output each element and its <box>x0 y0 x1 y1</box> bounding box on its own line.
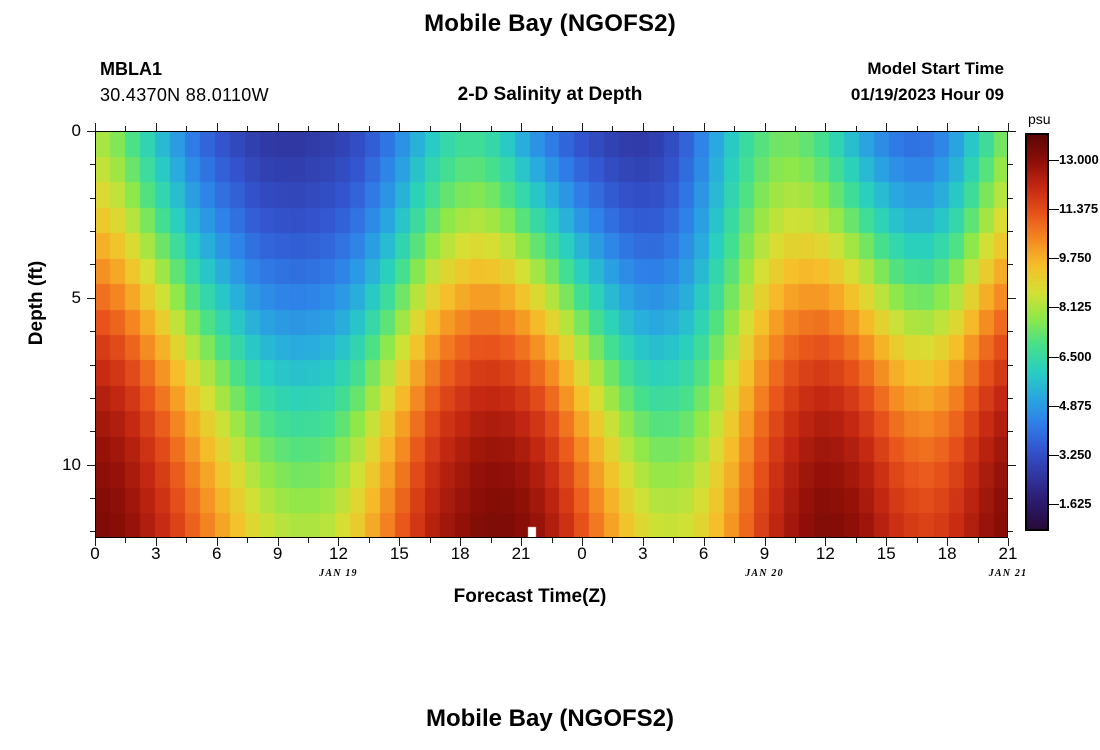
x-tick-minor <box>247 126 248 131</box>
x-tick-label: 12 <box>805 544 845 564</box>
x-tick-minor <box>186 126 187 131</box>
x-tick-minor <box>856 126 857 131</box>
x-tick-label: 0 <box>75 544 115 564</box>
colorbar-tick <box>1049 160 1059 161</box>
y-tick-minor <box>1008 264 1013 265</box>
y-tick-minor <box>90 531 95 532</box>
x-tick-major <box>278 123 279 131</box>
x-tick-minor <box>369 538 370 543</box>
x-tick-major <box>582 123 583 131</box>
x-tick-minor <box>978 126 979 131</box>
x-tick-minor <box>430 126 431 131</box>
x-tick-major <box>338 123 339 131</box>
x-tick-minor <box>552 126 553 131</box>
colorbar-tick <box>1049 455 1059 456</box>
x-tick-minor <box>247 538 248 543</box>
y-tick-label: 5 <box>37 288 81 308</box>
colorbar-tick <box>1049 258 1059 259</box>
x-tick-minor <box>552 538 553 543</box>
colorbar <box>1025 133 1049 531</box>
y-tick-minor <box>1008 198 1013 199</box>
x-tick-minor <box>125 538 126 543</box>
x-tick-minor <box>978 538 979 543</box>
day-label: JAN 20 <box>725 568 805 579</box>
colorbar-tick-label: 3.250 <box>1059 447 1092 462</box>
x-tick-minor <box>856 538 857 543</box>
y-tick-minor <box>90 264 95 265</box>
x-tick-major <box>643 123 644 131</box>
x-tick-minor <box>430 538 431 543</box>
y-tick-major <box>1008 298 1016 299</box>
salinity-heatmap <box>96 132 1008 538</box>
page-title: Mobile Bay (NGOFS2) <box>0 10 1100 38</box>
day-label: JAN 21 <box>968 568 1048 579</box>
colorbar-tick-label: 11.375 <box>1059 201 1098 216</box>
x-tick-minor <box>308 126 309 131</box>
colorbar-tick <box>1049 209 1059 210</box>
day-label: JAN 19 <box>298 568 378 579</box>
colorbar-tick-label: 8.125 <box>1059 299 1092 314</box>
x-tick-minor <box>795 538 796 543</box>
y-tick-minor <box>90 164 95 165</box>
x-tick-label: 0 <box>562 544 602 564</box>
x-tick-minor <box>308 538 309 543</box>
y-tick-minor <box>90 198 95 199</box>
x-tick-minor <box>795 126 796 131</box>
model-start-value: 01/19/2023 Hour 09 <box>851 82 1004 108</box>
x-tick-minor <box>673 126 674 131</box>
x-tick-label: 9 <box>258 544 298 564</box>
x-tick-minor <box>612 538 613 543</box>
x-tick-minor <box>186 538 187 543</box>
x-tick-label: 18 <box>927 544 967 564</box>
x-tick-minor <box>369 126 370 131</box>
colorbar-tick-label: 9.750 <box>1059 250 1092 265</box>
x-tick-major <box>521 123 522 131</box>
x-tick-major <box>947 123 948 131</box>
y-tick-minor <box>1008 164 1013 165</box>
footer-title: Mobile Bay (NGOFS2) <box>0 705 1100 733</box>
y-tick-label: 10 <box>37 455 81 475</box>
x-tick-label: 12 <box>318 544 358 564</box>
y-tick-minor <box>90 231 95 232</box>
x-tick-major <box>765 123 766 131</box>
colorbar-tick <box>1049 504 1059 505</box>
y-tick-minor <box>90 431 95 432</box>
x-tick-major <box>95 123 96 131</box>
x-tick-major <box>217 123 218 131</box>
x-tick-label: 21 <box>501 544 541 564</box>
y-tick-minor <box>90 365 95 366</box>
x-tick-minor <box>491 126 492 131</box>
y-tick-minor <box>1008 531 1013 532</box>
x-tick-label: 6 <box>197 544 237 564</box>
chart-page: Mobile Bay (NGOFS2) MBLA1 30.4370N 88.01… <box>0 0 1100 750</box>
x-tick-minor <box>734 126 735 131</box>
x-tick-major <box>399 123 400 131</box>
x-tick-minor <box>491 538 492 543</box>
y-tick-label: 0 <box>37 121 81 141</box>
x-tick-major <box>460 123 461 131</box>
x-tick-minor <box>673 538 674 543</box>
colorbar-tick <box>1049 406 1059 407</box>
y-tick-major <box>87 298 95 299</box>
x-tick-minor <box>612 126 613 131</box>
x-tick-label: 15 <box>866 544 906 564</box>
y-tick-major <box>1008 131 1016 132</box>
station-id: MBLA1 <box>100 56 269 82</box>
y-tick-minor <box>1008 331 1013 332</box>
colorbar-tick-label: 1.625 <box>1059 496 1092 511</box>
y-tick-major <box>87 131 95 132</box>
y-tick-minor <box>1008 231 1013 232</box>
y-tick-minor <box>1008 498 1013 499</box>
y-tick-major <box>1008 465 1016 466</box>
x-tick-major <box>704 123 705 131</box>
colorbar-gradient <box>1027 135 1047 529</box>
x-tick-minor <box>917 126 918 131</box>
x-tick-major <box>825 123 826 131</box>
y-tick-minor <box>1008 398 1013 399</box>
x-tick-minor <box>917 538 918 543</box>
colorbar-tick-label: 6.500 <box>1059 349 1092 364</box>
x-tick-major <box>1008 123 1009 131</box>
x-tick-label: 9 <box>745 544 785 564</box>
x-tick-label: 3 <box>136 544 176 564</box>
x-tick-label: 21 <box>988 544 1028 564</box>
y-tick-major <box>87 465 95 466</box>
x-tick-label: 15 <box>379 544 419 564</box>
x-tick-major <box>886 123 887 131</box>
colorbar-unit-label: psu <box>1028 111 1051 127</box>
x-tick-minor <box>734 538 735 543</box>
y-tick-minor <box>90 398 95 399</box>
x-tick-minor <box>125 126 126 131</box>
x-tick-label: 6 <box>684 544 724 564</box>
x-axis-label: Forecast Time(Z) <box>0 586 1060 608</box>
colorbar-tick <box>1049 307 1059 308</box>
model-start-label: Model Start Time <box>851 56 1004 82</box>
colorbar-tick-label: 13.000 <box>1059 152 1099 167</box>
x-tick-label: 18 <box>440 544 480 564</box>
y-tick-minor <box>1008 431 1013 432</box>
heatmap-plot-area <box>95 131 1008 538</box>
colorbar-tick-label: 4.875 <box>1059 398 1092 413</box>
y-tick-minor <box>90 498 95 499</box>
colorbar-tick <box>1049 357 1059 358</box>
y-tick-minor <box>1008 365 1013 366</box>
x-tick-label: 3 <box>623 544 663 564</box>
y-tick-minor <box>90 331 95 332</box>
x-tick-major <box>156 123 157 131</box>
model-start-info: Model Start Time 01/19/2023 Hour 09 <box>851 56 1004 107</box>
